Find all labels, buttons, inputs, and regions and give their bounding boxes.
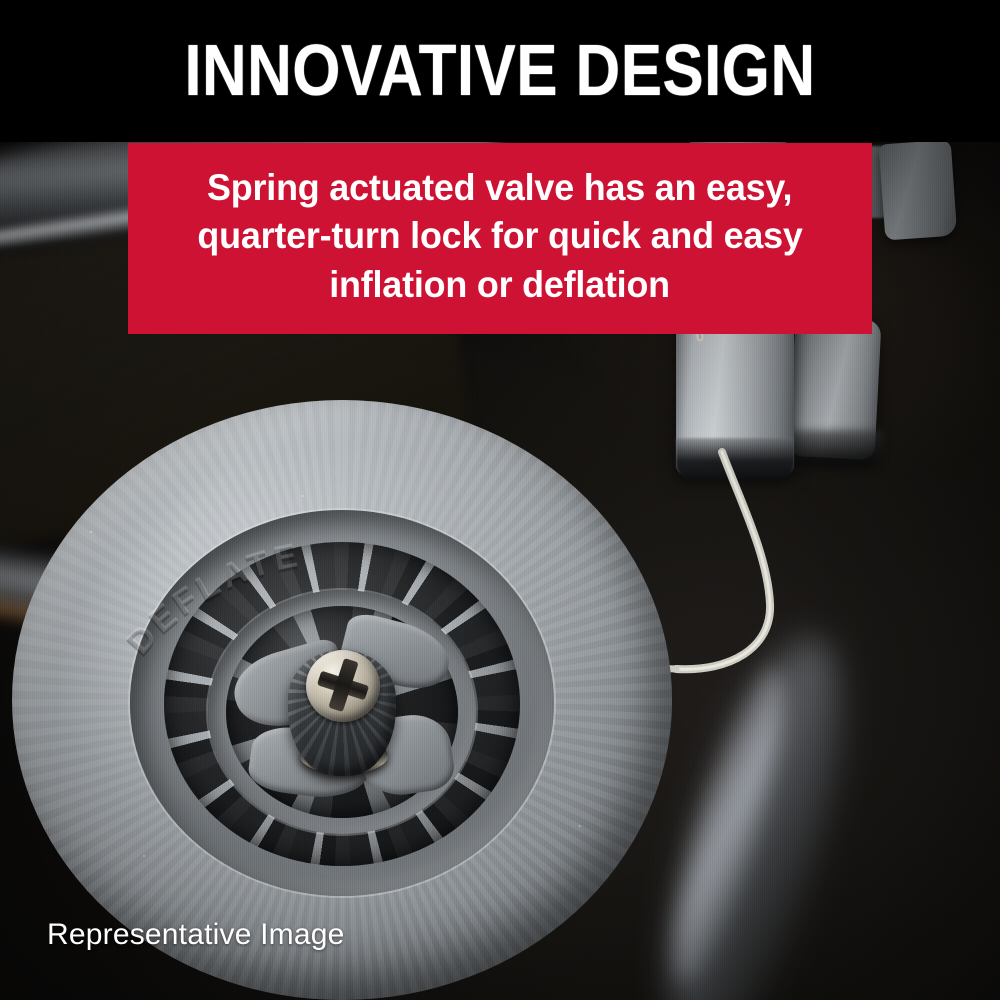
header-bar: INNOVATIVE DESIGN [0, 0, 1000, 142]
inflation-valve [12, 400, 672, 1000]
valve-cap-lug-shadow [786, 430, 882, 466]
product-feature-graphic: DEFLATE DEFLATE Representative Image INN… [0, 0, 1000, 1000]
valve-cap-underside [676, 438, 794, 480]
callout-line-3: inflation or deflation [330, 261, 671, 309]
valve-cap-wing [879, 140, 958, 241]
page-title: INNOVATIVE DESIGN [184, 35, 815, 107]
callout-line-1: Spring actuated valve has an easy, [207, 164, 792, 212]
feature-callout-panel: Spring actuated valve has an easy, quart… [128, 143, 872, 334]
callout-line-2: quarter-turn lock for quick and easy [197, 212, 802, 260]
photo-caption: Representative Image [47, 918, 345, 952]
